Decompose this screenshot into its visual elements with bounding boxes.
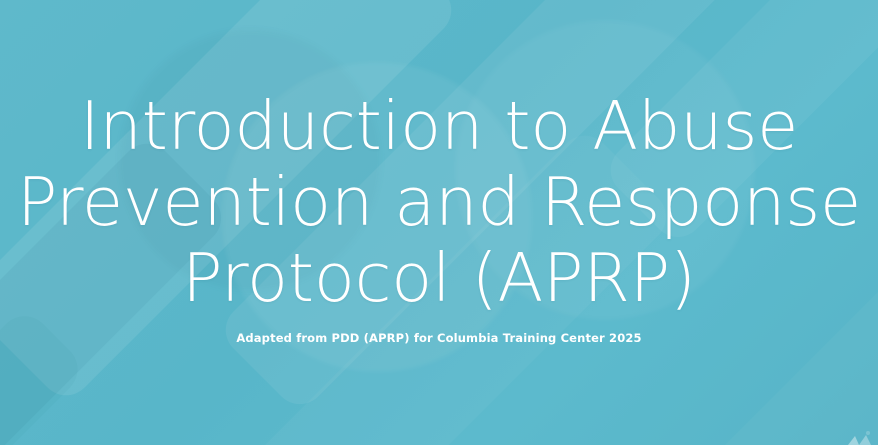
slide-title-line-2: Prevention and Response: [0, 164, 878, 240]
slide-subtitle: Adapted from PDD (APRP) for Columbia Tra…: [0, 330, 878, 346]
title-slide: Introduction to Abuse Prevention and Res…: [0, 0, 878, 445]
slide-title-line-3: Protocol (APRP): [0, 240, 878, 316]
slide-title-line-1: Introduction to Abuse: [0, 88, 878, 164]
title-block: Introduction to Abuse Prevention and Res…: [0, 88, 878, 346]
slide-content: Introduction to Abuse Prevention and Res…: [0, 0, 878, 445]
